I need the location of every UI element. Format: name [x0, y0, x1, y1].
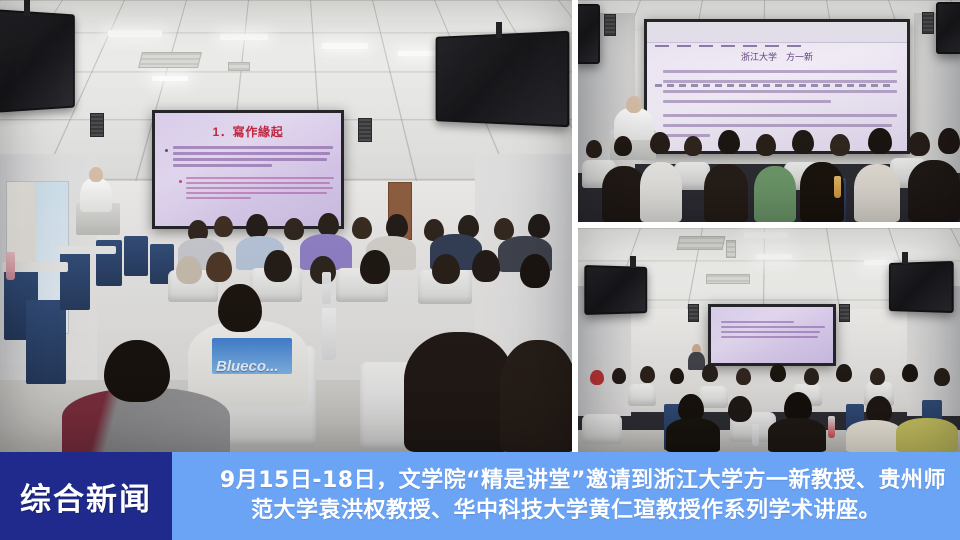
audience-head [360, 250, 390, 284]
audience-head [472, 250, 500, 282]
audience-head [528, 214, 550, 238]
wall-monitor [436, 31, 570, 128]
audience-body [908, 160, 960, 222]
audience-head [386, 214, 408, 238]
wall-speaker [604, 14, 616, 36]
audience-head [908, 132, 930, 156]
water-bottle [322, 272, 331, 304]
audience-head [104, 340, 170, 402]
audience-head [284, 218, 304, 240]
audience-head [792, 130, 814, 154]
wall-monitor [578, 4, 600, 64]
ceiling-light [220, 34, 268, 40]
audience-head [670, 368, 684, 384]
tshirt-text: Blueco... [216, 358, 279, 375]
ceiling-light [756, 254, 792, 259]
audience-body [854, 164, 900, 222]
ceiling-vent [138, 52, 202, 68]
slide-bullet-dot [165, 149, 168, 152]
ceiling-vent [677, 236, 726, 250]
audience-head [836, 364, 852, 382]
top-right-lecture-photo: 浙江大学 方一新 [578, 0, 960, 222]
audience-head [432, 254, 460, 284]
audience-head [650, 132, 670, 154]
document-paragraph-1 [663, 70, 897, 110]
monitor-mount [630, 256, 636, 268]
caption-bar: 综合新闻 9月15日-18日，文学院“精是讲堂”邀请到浙江大学方一新教授、贵州师… [0, 452, 960, 540]
ceiling-vent [706, 274, 750, 284]
ceiling-vent [228, 62, 250, 71]
category-tag: 综合新闻 [0, 452, 172, 540]
photo-collage: 1．寫作緣起 [0, 0, 960, 452]
audience-head [868, 128, 892, 154]
audience [578, 356, 960, 452]
slide-bullet-dot [179, 180, 182, 183]
audience-body [704, 164, 748, 222]
wall-speaker [688, 304, 699, 322]
audience-head [218, 284, 262, 332]
audience-head [318, 213, 339, 236]
audience-head [770, 364, 786, 382]
audience-head [264, 250, 292, 282]
monitor-mount [24, 0, 30, 16]
audience-body [404, 332, 514, 452]
slide-lines [721, 321, 829, 341]
audience: Blueco... [0, 212, 572, 452]
audience [578, 122, 960, 222]
ceiling-vent [726, 240, 736, 258]
audience-head [614, 136, 632, 156]
audience-head [176, 256, 202, 284]
audience-head [702, 364, 718, 382]
audience-body [846, 420, 902, 452]
presenter [80, 178, 112, 212]
category-tag-label: 综合新闻 [20, 474, 152, 519]
audience-head [684, 136, 702, 156]
wall-monitor [584, 265, 647, 315]
audience-head [206, 252, 232, 282]
ceiling-light [322, 43, 368, 49]
audience-head [902, 364, 918, 382]
audience-body [500, 340, 572, 452]
ceiling-light [108, 30, 162, 37]
slide-bullet-2 [186, 177, 334, 202]
audience-head [938, 128, 960, 154]
audience-head [612, 368, 626, 384]
audience-head [736, 368, 751, 385]
audience-body [666, 418, 720, 452]
audience-body [754, 166, 796, 222]
audience-body [640, 162, 682, 222]
audience-head [728, 396, 752, 422]
document-heading: 浙江大学 方一新 [647, 50, 907, 63]
presenter-head [89, 167, 103, 182]
wall-speaker [922, 12, 934, 34]
wall-monitor [936, 2, 960, 54]
audience-head [590, 370, 604, 385]
audience-head [756, 134, 776, 156]
wall-speaker [358, 118, 372, 142]
presenter-head [626, 96, 642, 113]
ceiling-light [152, 76, 188, 81]
wall-monitor [0, 9, 75, 113]
document-ribbon [647, 22, 907, 43]
audience-head [830, 134, 850, 156]
audience-head [870, 368, 885, 385]
audience-head [246, 214, 268, 238]
audience-head [934, 368, 950, 386]
slide-bullet-1 [173, 146, 333, 170]
main-lecture-hall-photo: 1．寫作緣起 [0, 0, 572, 452]
audience-head [804, 368, 819, 385]
water-bottle [6, 252, 15, 280]
audience-head [520, 254, 550, 288]
wall-speaker [90, 113, 104, 137]
caption-line-1: 9月15日-18日，文学院“精是讲堂”邀请到浙江大学方一新教授、贵州师 [186, 466, 946, 496]
audience-head [352, 217, 372, 239]
ribbon-tabs [655, 45, 806, 47]
audience-head [214, 216, 233, 237]
monitor-mount [902, 252, 908, 264]
wall-monitor [889, 261, 954, 313]
water-bottle [828, 416, 835, 438]
bottom-right-lecture-photo [578, 228, 960, 452]
water-bottle [322, 308, 336, 360]
audience-head [640, 366, 655, 383]
caption-line-2: 范大学袁洪权教授、华中科技大学黄仁瑄教授作系列学术讲座。 [251, 496, 881, 526]
auditorium-seat [628, 384, 656, 406]
ceiling-light [398, 51, 440, 56]
water-bottle [834, 176, 841, 198]
audience-body [896, 418, 958, 452]
news-photo-collage-page: 1．寫作緣起 [0, 0, 960, 540]
auditorium-seat [582, 414, 622, 444]
slide-title: 1．寫作緣起 [155, 123, 341, 140]
audience-body [768, 418, 826, 452]
audience-head [586, 140, 602, 158]
ceiling-light [744, 232, 788, 238]
monitor-mount [496, 22, 502, 38]
caption-text-block: 9月15日-18日，文学院“精是讲堂”邀请到浙江大学方一新教授、贵州师 范大学袁… [172, 452, 960, 540]
wall-speaker [839, 304, 850, 322]
water-bottle [752, 424, 759, 446]
audience-head [718, 130, 740, 154]
